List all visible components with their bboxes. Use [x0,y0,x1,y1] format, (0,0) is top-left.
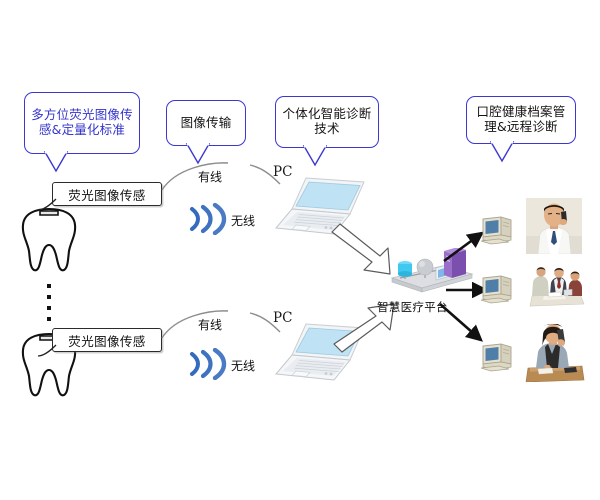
photo-doctor-on-phone [526,198,582,254]
desktop-computer-icon-doctor[interactable] [479,213,519,247]
tooth-icon-top [18,205,80,275]
photo-team-meeting [524,262,588,308]
callout-multi-angle-sensing[interactable]: 多方位荧光图像传感&定量化标准 [24,92,140,154]
callout-tail-icon [489,142,515,162]
callout-text: 口腔健康档案管理&远程诊断 [471,105,571,135]
callout-personalized-diagnosis[interactable]: 个体化智能诊断技术 [275,96,379,148]
desktop-computer-icon-meeting[interactable] [479,272,519,306]
tooth-sensor-link-top [36,196,58,214]
desktop-computer-icon-operator[interactable] [479,340,519,374]
callout-text: 多方位荧光图像传感&定量化标准 [29,108,135,138]
sensor-label: 荧光图像传感 [68,331,145,350]
sensor-label: 荧光图像传感 [68,185,145,204]
callout-health-record[interactable]: 口腔健康档案管理&远程诊断 [466,96,576,144]
tooth-sensor-link-bottom [36,342,58,360]
diagram-canvas: 多方位荧光图像传感&定量化标准 图像传输 个体化智能诊断技术 口腔健康档案管理&… [0,0,600,500]
wired-arc-bottom [158,308,288,342]
callout-image-transmission[interactable]: 图像传输 [166,100,246,146]
wireless-label-bottom: 无线 [231,357,255,374]
sensor-box-bottom[interactable]: 荧光图像传感 [52,328,162,352]
photo-woman-on-phone [524,324,586,382]
sensor-box-top[interactable]: 荧光图像传感 [52,182,162,206]
callout-tail-icon [302,146,328,166]
wired-label-top: 有线 [198,168,222,185]
wired-arc-top [158,160,288,194]
wireless-label-top: 无线 [231,212,255,229]
wired-label-bottom: 有线 [198,316,222,333]
wireless-signal-icon-bottom [186,348,230,380]
callout-text: 图像传输 [181,116,232,131]
tooth-connector-dotted-line [47,284,51,326]
callout-tail-icon [43,152,69,172]
wireless-signal-icon-top [186,203,230,235]
callout-text: 个体化智能诊断技术 [280,107,374,137]
